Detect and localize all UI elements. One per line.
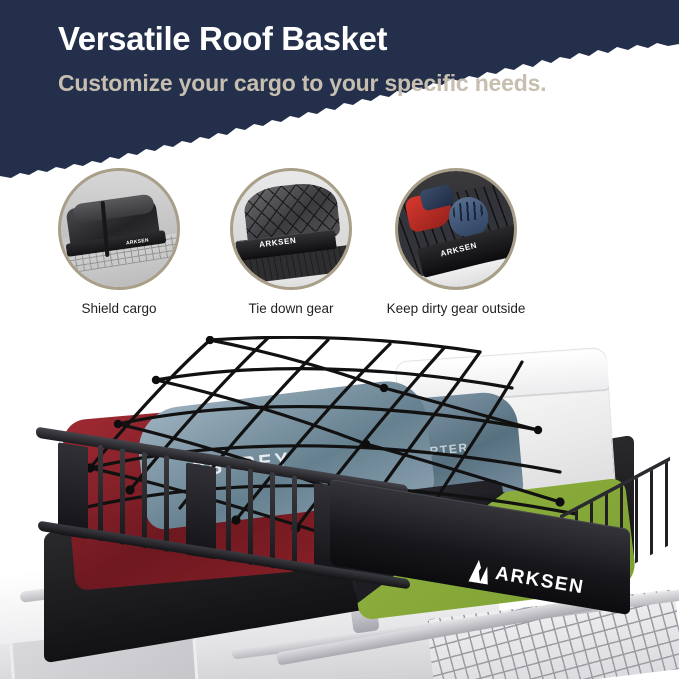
hero-product-image: TRANSPORTER OSPREY — [0, 336, 679, 679]
feature-caption: Keep dirty gear outside — [371, 300, 541, 317]
arksen-mountain-icon — [467, 557, 493, 586]
product-infographic: Versatile Roof Basket Customize your car… — [0, 0, 679, 679]
tie-down-gear-thumbnail: ARKSEN — [230, 168, 352, 290]
feature-list: ARKSEN Shield cargo ARKSEN Tie down gear — [0, 168, 679, 333]
page-subtitle: Customize your cargo to your specific ne… — [58, 68, 588, 98]
shield-cargo-thumbnail: ARKSEN — [58, 168, 180, 290]
feature-item-shield-cargo: ARKSEN Shield cargo — [34, 168, 204, 317]
feature-caption: Shield cargo — [34, 300, 204, 317]
page-title: Versatile Roof Basket — [58, 20, 387, 58]
feature-item-keep-dirty-gear-outside: ARKSEN Keep dirty gear outside — [371, 168, 541, 317]
keep-dirty-gear-thumbnail: ARKSEN — [395, 168, 517, 290]
feature-caption: Tie down gear — [206, 300, 376, 317]
feature-item-tie-down-gear: ARKSEN Tie down gear — [206, 168, 376, 317]
roof-basket: TRANSPORTER OSPREY — [0, 336, 679, 679]
